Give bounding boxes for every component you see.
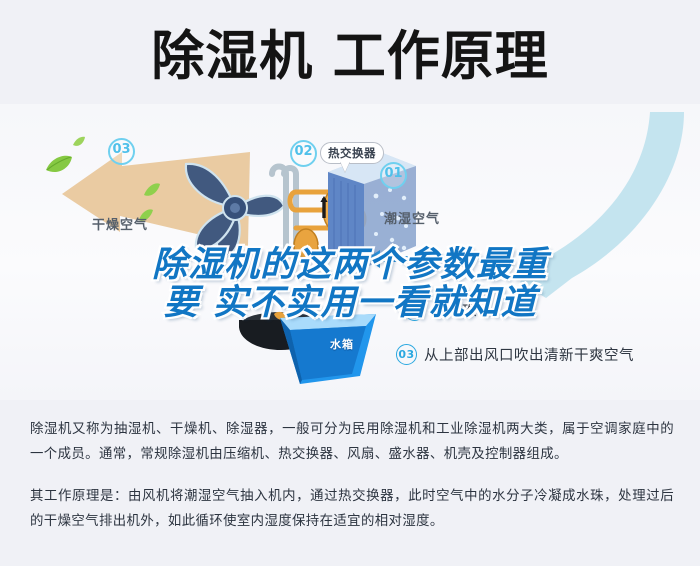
humid-air-flow-icon	[396, 112, 696, 302]
legend-row-03: 03 从上部出风口吹出清新干爽空气	[396, 344, 634, 365]
callout-bubble-tail	[340, 161, 350, 172]
leaf-icon	[143, 182, 161, 198]
article-paragraph-1: 除湿机又称为抽湿机、干燥机、除湿器，一般可分为民用除湿机和工业除湿机两大类，属于…	[30, 416, 674, 466]
callout-badge-02-number: 02	[290, 140, 317, 167]
callout-badge-03: 03	[108, 138, 135, 165]
article-body: 除湿机又称为抽湿机、干燥机、除湿器，一般可分为民用除湿机和工业除湿机两大类，属于…	[30, 416, 674, 533]
water-tank-label: 水箱	[330, 336, 354, 352]
water-tank-icon	[276, 312, 386, 392]
callout-badge-02: 02	[290, 140, 317, 167]
leaf-icon	[44, 154, 74, 176]
callout-badge-03-number: 03	[108, 138, 135, 165]
leaf-icon	[72, 136, 86, 148]
legend-ring-03: 03	[396, 344, 417, 365]
page-title: 除湿机 工作原理	[151, 28, 548, 86]
article-paragraph-2: 其工作原理是：由风机将潮湿空气抽入机内，通过热交换器，此时空气中的水分子冷凝成水…	[30, 483, 674, 533]
callout-label-humid-air: 潮湿空气	[384, 208, 440, 227]
legend-text-03: 从上部出风口吹出清新干爽空气	[424, 344, 634, 365]
legend-ring-02: 02	[404, 300, 425, 321]
legend-row-02: 02 成水珠	[404, 300, 477, 321]
callout-label-dry-air: 干燥空气	[92, 214, 148, 233]
page-root: 除湿机 工作原理	[0, 0, 700, 566]
page-title-bar: 除湿机 工作原理	[0, 22, 700, 92]
legend-text-02: 成水珠	[432, 300, 477, 321]
callout-badge-01-number: 01	[380, 162, 407, 189]
dehumidifier-principle-diagram: 水箱 03 干燥空气 02 热交换器 01 潮湿空气 02 成水珠 03 从上部…	[0, 104, 700, 400]
callout-bubble-heat-exchanger: 热交换器	[320, 142, 384, 164]
callout-badge-01: 01	[380, 162, 407, 189]
